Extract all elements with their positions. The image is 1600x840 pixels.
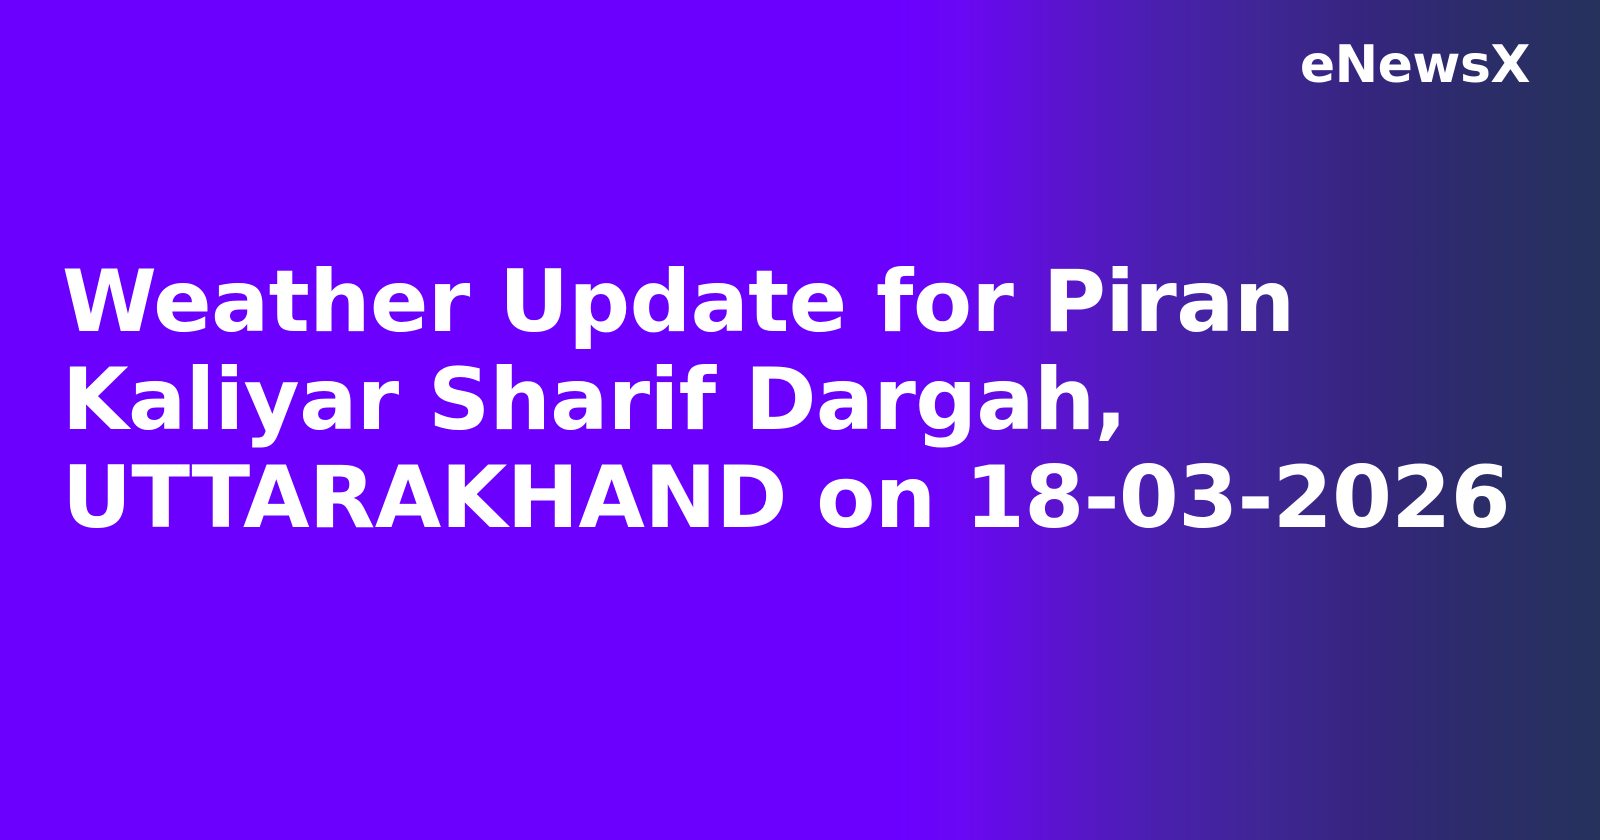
page-title: Weather Update for Piran Kaliyar Sharif …	[62, 253, 1517, 547]
brand-header: eNewsX	[0, 0, 1600, 130]
weather-update-banner: eNewsX Weather Update for Piran Kaliyar …	[0, 0, 1600, 840]
headline-block: Weather Update for Piran Kaliyar Sharif …	[62, 253, 1517, 547]
brand-logo: eNewsX	[1300, 39, 1530, 91]
